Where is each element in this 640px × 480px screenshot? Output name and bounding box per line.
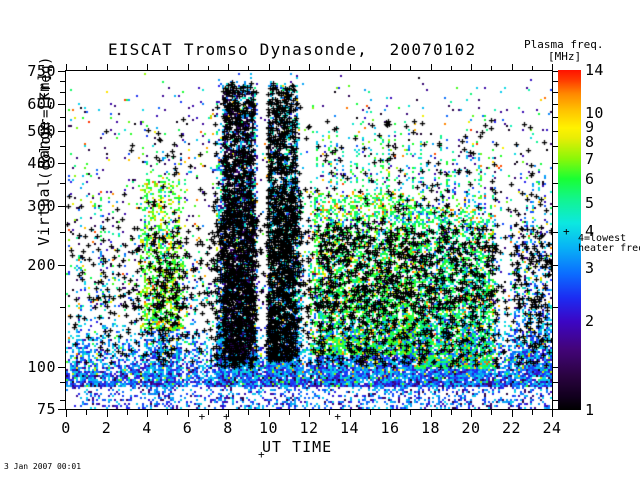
x-axis-tick	[552, 64, 553, 71]
y-axis-tick-label: 600	[10, 95, 56, 113]
heater-on-marker: +	[223, 410, 230, 423]
x-axis-tick	[431, 410, 432, 417]
x-axis-tick	[86, 66, 87, 71]
x-axis-tick	[512, 410, 513, 417]
x-axis-tick	[208, 410, 209, 415]
y-axis-minor-tick	[60, 232, 65, 233]
y-axis-minor-tick	[60, 382, 65, 383]
dynasonde-plot-figure: EISCAT Tromso Dynasonde, 20070102 Plasma…	[0, 0, 640, 480]
heater-on-marker: +	[334, 410, 341, 423]
y-axis-tick-label: 300	[10, 197, 56, 215]
y-axis-tick-label: 100	[10, 358, 56, 376]
x-axis-tick	[147, 64, 148, 71]
x-axis-tick	[66, 64, 67, 71]
y-axis-minor-tick	[60, 92, 65, 93]
x-axis-tick	[289, 410, 290, 415]
x-axis-tick	[309, 410, 310, 417]
heater-on-marker: +	[199, 410, 206, 423]
y-axis-tick-label: 75	[10, 400, 56, 418]
x-axis-tick-label: 2	[91, 419, 123, 437]
x-axis-tick	[370, 410, 371, 415]
x-axis-tick	[167, 66, 168, 71]
y-axis-tick	[58, 163, 65, 164]
colorbar-plus-icon: +	[563, 225, 570, 238]
x-axis-tick-label: 4	[131, 419, 163, 437]
x-axis-tick	[431, 64, 432, 71]
x-axis-tick-label: 16	[374, 419, 406, 437]
y-axis-tick	[58, 409, 65, 410]
x-axis-tick	[390, 410, 391, 417]
footer-timestamp: 3 Jan 2007 00:01	[4, 462, 81, 471]
x-axis-tick	[370, 66, 371, 71]
x-axis-tick	[491, 410, 492, 415]
y-axis-tick	[58, 367, 65, 368]
x-axis-tick	[410, 66, 411, 71]
x-axis-tick	[410, 410, 411, 415]
y-axis-tick	[58, 206, 65, 207]
x-axis-tick	[188, 64, 189, 71]
y-axis-tick-label: 400	[10, 154, 56, 172]
x-axis-tick	[228, 64, 229, 71]
y-axis-tick	[58, 265, 65, 266]
plot-area	[65, 70, 553, 410]
colorbar-tick-label: 8	[585, 133, 594, 151]
x-axis-tick	[86, 410, 87, 415]
x-axis-tick	[107, 64, 108, 71]
colorbar-title-line2: [MHz]	[548, 50, 581, 63]
page-title: EISCAT Tromso Dynasonde, 20070102	[108, 40, 476, 59]
colorbar-tick-label: 6	[585, 170, 594, 188]
x-axis-tick-label: 22	[496, 419, 528, 437]
y-axis-tick-label: 500	[10, 122, 56, 140]
colorbar-note-line2: heater freq.	[578, 243, 640, 254]
x-axis-tick	[471, 410, 472, 417]
x-axis-tick	[248, 66, 249, 71]
x-axis-tick	[107, 410, 108, 417]
y-axis-minor-tick	[60, 183, 65, 184]
x-axis-tick-label: 18	[415, 419, 447, 437]
y-axis-minor-tick	[60, 146, 65, 147]
colorbar-tick-label: 5	[585, 194, 594, 212]
colorbar-tick-label: 2	[585, 312, 594, 330]
x-axis-tick	[147, 410, 148, 417]
y-axis-minor-tick	[60, 81, 65, 82]
x-axis-tick	[491, 66, 492, 71]
x-axis-tick	[248, 410, 249, 415]
x-axis-tick-label: 24	[536, 419, 568, 437]
x-axis-tick	[329, 410, 330, 415]
x-axis-tick	[188, 410, 189, 417]
y-axis-minor-tick	[60, 117, 65, 118]
colorbar-tick-label: 3	[585, 259, 594, 277]
heater-legend-plus-icon: +	[258, 448, 265, 461]
y-axis-subtitle: (colour= Freq)	[38, 8, 54, 228]
x-axis-tick	[269, 410, 270, 417]
x-axis-tick	[289, 66, 290, 71]
colorbar-tick-label: 14	[585, 61, 604, 79]
x-axis-tick	[552, 410, 553, 417]
x-axis-tick-label: 12	[293, 419, 325, 437]
x-axis-tick	[451, 66, 452, 71]
colorbar-tick-label: 7	[585, 150, 594, 168]
x-axis-tick	[167, 410, 168, 415]
x-axis-tick	[532, 66, 533, 71]
y-axis-tick	[58, 131, 65, 132]
x-axis-tick	[471, 64, 472, 71]
x-axis-tick	[127, 66, 128, 71]
x-axis-tick-label: 20	[455, 419, 487, 437]
x-axis-tick	[532, 410, 533, 415]
x-axis-tick	[66, 410, 67, 417]
x-axis-tick	[512, 64, 513, 71]
x-axis-tick	[451, 410, 452, 415]
x-axis-tick	[350, 64, 351, 71]
x-axis-title: UT TIME	[262, 438, 332, 456]
x-axis-tick-label: 0	[50, 419, 82, 437]
x-axis-tick	[309, 64, 310, 71]
x-axis-tick	[208, 66, 209, 71]
x-axis-tick	[127, 410, 128, 415]
y-axis-minor-tick	[60, 400, 65, 401]
x-axis-tick	[350, 410, 351, 417]
y-axis-tick	[58, 71, 65, 72]
x-axis-tick	[269, 64, 270, 71]
x-axis-tick-label: 10	[253, 419, 285, 437]
data-canvas	[66, 71, 552, 409]
y-axis-tick	[58, 104, 65, 105]
x-axis-tick	[329, 66, 330, 71]
x-axis-tick	[390, 64, 391, 71]
y-axis-minor-tick	[60, 307, 65, 308]
y-axis-tick-label: 200	[10, 256, 56, 274]
colorbar-tick-label: 1	[585, 401, 594, 419]
y-axis-subtitle-label: (colour= Freq)	[38, 8, 54, 228]
y-axis-tick-label: 750	[10, 62, 56, 80]
